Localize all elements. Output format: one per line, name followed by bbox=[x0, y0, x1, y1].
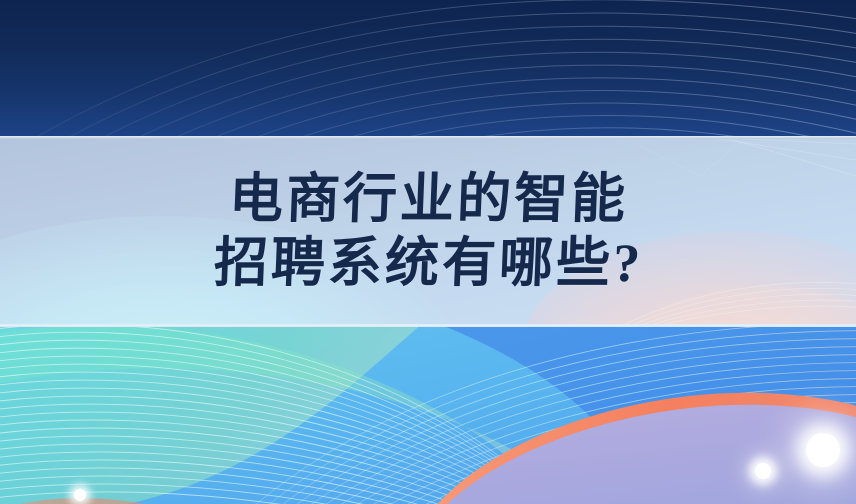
poster-canvas: 电商行业的智能 招聘系统有哪些? bbox=[0, 0, 856, 504]
wave-decoration-icon bbox=[0, 327, 856, 504]
band-bottom-divider bbox=[0, 324, 856, 327]
glow-dot-large-icon bbox=[806, 433, 840, 467]
glow-dot-small-icon bbox=[755, 463, 771, 479]
top-navy-background bbox=[0, 0, 856, 137]
band-top-divider bbox=[0, 136, 856, 139]
title-band-background bbox=[0, 136, 856, 327]
glow-dot-tiny-icon bbox=[74, 489, 86, 501]
faint-diagonal-lines-icon bbox=[0, 136, 856, 327]
radiating-arc-lines-icon bbox=[0, 0, 856, 137]
bottom-gradient-background bbox=[0, 327, 856, 504]
